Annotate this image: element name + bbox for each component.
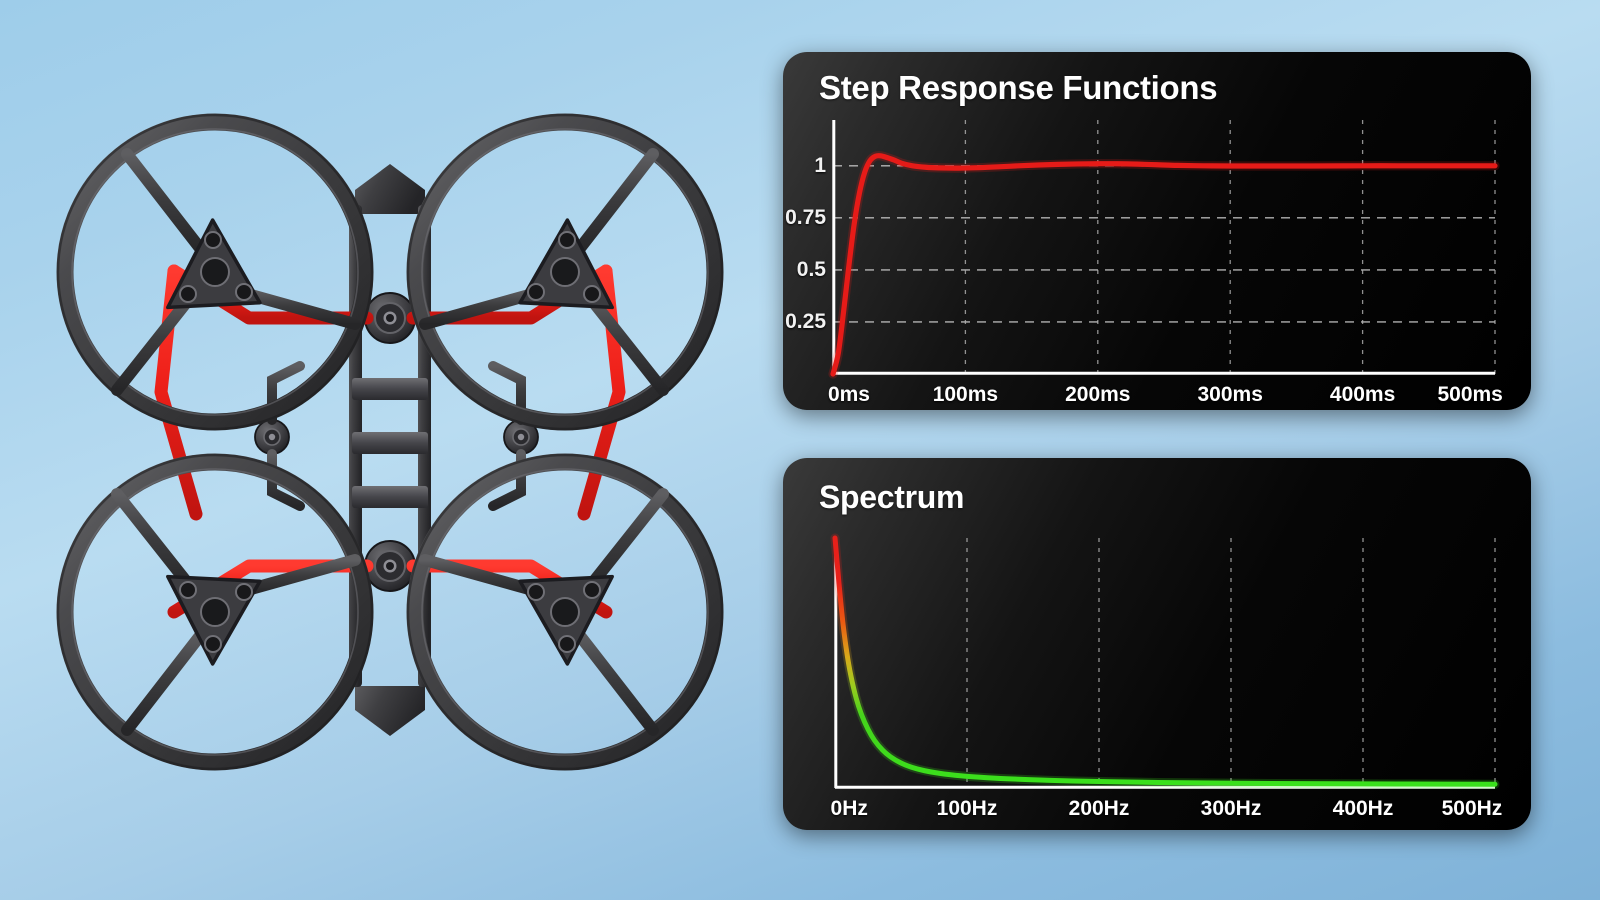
step-response-title: Step Response Functions xyxy=(819,69,1217,107)
nose-cone-top xyxy=(355,164,425,214)
guard-spoke xyxy=(127,154,203,252)
x-tick-label: 100Hz xyxy=(937,797,998,821)
drone-center-body xyxy=(255,164,538,736)
spectrum-title: Spectrum xyxy=(819,479,964,516)
step-response-panel: Step Response Functions 0.250.50.7510ms1… xyxy=(783,52,1531,410)
guard-spoke xyxy=(577,154,653,252)
chassis-rungs xyxy=(352,378,428,508)
spectrum-plot: 0Hz100Hz200Hz300Hz400Hz500Hz xyxy=(835,538,1495,788)
nose-cone-bottom xyxy=(355,686,425,736)
x-tick-label: 400ms xyxy=(1330,383,1395,407)
screenshot-root: Step Response Functions 0.250.50.7510ms1… xyxy=(0,0,1600,900)
prop-guard-front-right xyxy=(408,115,722,429)
chassis-rung xyxy=(352,486,428,508)
step-response-svg xyxy=(833,120,1495,374)
x-tick-label: 500Hz xyxy=(1442,797,1503,821)
spectrum-panel: Spectrum 0Hz100Hz200Hz300Hz400Hz500Hz xyxy=(783,458,1531,830)
chassis-side-boss-left-top xyxy=(255,420,289,454)
x-tick-label: 200ms xyxy=(1065,383,1130,407)
prop-guard-front-left xyxy=(58,115,372,429)
series-glow xyxy=(833,156,1495,374)
chassis-rung xyxy=(352,432,428,454)
spectrum-svg xyxy=(835,538,1495,788)
x-tick-label: 200Hz xyxy=(1069,797,1130,821)
x-tick-label: 500ms xyxy=(1437,383,1502,407)
guard-spoke xyxy=(127,632,203,730)
series-glow xyxy=(835,538,1495,784)
x-tick-label: 100ms xyxy=(933,383,998,407)
x-tick-label: 0ms xyxy=(828,383,870,407)
drone-svg xyxy=(0,0,780,900)
series-line xyxy=(835,538,1495,784)
prop-guard-rear-right xyxy=(408,455,722,769)
chassis-rung xyxy=(352,378,428,400)
drone-frame-render xyxy=(0,0,780,900)
y-tick-label: 0.75 xyxy=(785,206,826,230)
y-tick-label: 0.25 xyxy=(785,310,826,334)
series-line xyxy=(833,156,1495,374)
prop-guard-rear-left xyxy=(58,455,372,769)
x-tick-label: 0Hz xyxy=(831,797,868,821)
y-tick-label: 0.5 xyxy=(797,258,826,282)
step-response-plot: 0.250.50.7510ms100ms200ms300ms400ms500ms xyxy=(833,120,1495,374)
x-tick-label: 300Hz xyxy=(1201,797,1262,821)
x-tick-label: 300ms xyxy=(1197,383,1262,407)
x-tick-label: 400Hz xyxy=(1333,797,1394,821)
guard-spoke xyxy=(577,632,653,730)
y-tick-label: 1 xyxy=(814,154,826,178)
